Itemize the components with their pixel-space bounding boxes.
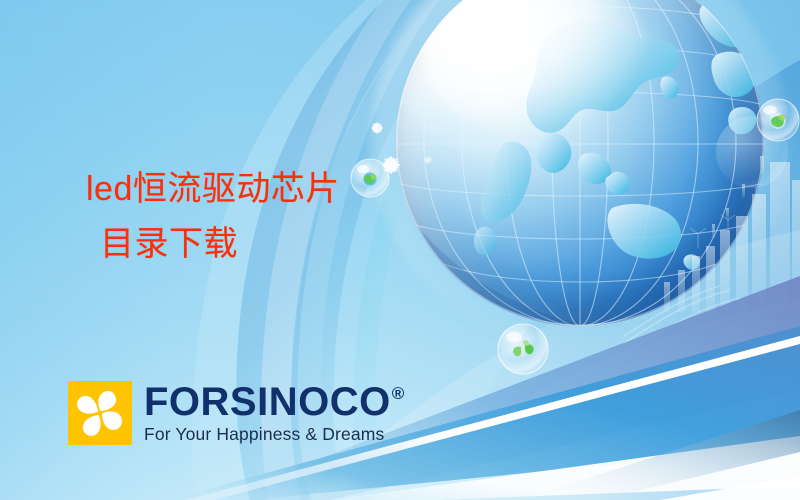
brand-tagline: For Your Happiness & Dreams [144, 426, 405, 444]
brand-name-text: FORSINOCO [144, 382, 391, 422]
page-headline: led恒流驱动芯片 目录下载 [86, 162, 416, 272]
poster-canvas: led恒流驱动芯片 目录下载 FORSINOCO ® For Your Happ… [0, 0, 800, 500]
registered-trademark-icon: ® [392, 385, 405, 402]
star-sparkle-icon [420, 152, 436, 173]
diagonal-ribbon-swoosh [0, 240, 800, 500]
brand-logo: FORSINOCO ® For Your Happiness & Dreams [68, 381, 405, 445]
bubble-icon [716, 116, 788, 188]
flower-petal-logo-icon [68, 381, 132, 445]
headline-line-2: 目录下载 [86, 217, 416, 272]
bubble-icon [497, 323, 549, 375]
brand-text: FORSINOCO ® For Your Happiness & Dreams [144, 382, 405, 444]
star-sparkle-icon [366, 117, 388, 144]
brand-name: FORSINOCO ® [144, 382, 405, 422]
headline-line-1: led恒流驱动芯片 [86, 170, 340, 208]
